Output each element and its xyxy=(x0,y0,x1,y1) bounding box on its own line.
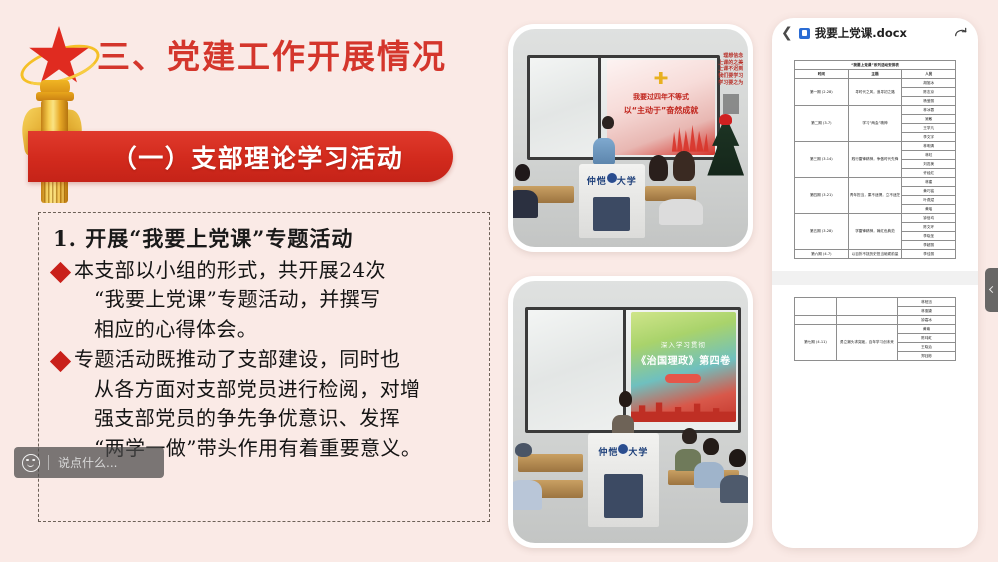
table-row: 钟嘉冰 xyxy=(795,316,956,325)
diamond-bullet-icon xyxy=(50,261,71,282)
cell-topic: 践行雷锋精神，争做时代先锋 xyxy=(848,142,902,178)
cell-person: 杨莹丽 xyxy=(902,97,956,106)
party-emblem-icon xyxy=(655,72,668,84)
cell-time: 第一期 (2.28) xyxy=(795,79,849,106)
bullet-line: 专题活动既推动了支部建设，同时也 xyxy=(74,347,400,371)
presenter-body xyxy=(593,138,615,164)
word-doc-icon xyxy=(799,28,810,39)
table-row: 第四期 (3.21) 青年担当，果不迷惘，立不迷茫 林建 xyxy=(795,178,956,187)
panel-collapse-tab[interactable] xyxy=(985,268,998,312)
cell-person: 李超丽 xyxy=(902,241,956,250)
cell-topic: 青年担当，果不迷惘，立不迷茫 xyxy=(848,178,902,214)
podium-label: 仲恺 大学 xyxy=(588,445,659,458)
presenter-head xyxy=(602,116,614,129)
student-body-c xyxy=(720,475,748,503)
column-header-topic: 主题 xyxy=(848,70,902,79)
table-row: 第二期 (3.7) 学习“两会”精神 林冰蓉 xyxy=(795,106,956,115)
student-head-left xyxy=(515,164,530,181)
bullet-text: 专题活动既推动了支部建设，同时也 从各方面对支部党员进行检阅，对增 强支部党员的… xyxy=(74,345,477,463)
bullet-line: 本支部以小组的形式，共开展24次 xyxy=(74,258,386,282)
student-head-right xyxy=(673,151,695,181)
cell-person: 吴敏 xyxy=(902,115,956,124)
photo-content: 我要过四年不等式 以“主动于”奋然成就 理想信念 上课的之美 上课不迟到 我们要… xyxy=(513,29,748,247)
bullet-line: “我要上党课”专题活动，并撰写 xyxy=(74,285,477,315)
student-head-c xyxy=(729,449,746,467)
photo-content: 深入学习贯彻 《治国理政》第四卷 仲恺 大学 xyxy=(513,281,748,543)
podium-front-panel xyxy=(593,197,630,231)
cell-person: 李佳丽 xyxy=(902,250,956,259)
cell-person: 黄瑶 xyxy=(902,205,956,214)
bullet-line: 强支部党员的争先争优意识、发挥 xyxy=(74,404,477,434)
section-banner: （一）支部理论学习活动 xyxy=(28,131,453,182)
page-separator xyxy=(772,271,978,285)
back-chevron-icon[interactable]: ❮ xyxy=(781,26,793,40)
cell-time: 第五期 (3.28) xyxy=(795,214,849,250)
slide-title-line2: 以“主动于”奋然成就 xyxy=(607,105,715,116)
wall-poster-text: 理想信念 上课的之美 上课不迟到 我们要学习 学习要之为 xyxy=(718,53,743,87)
document-page-2: 林柏迅 林惠婕 钟嘉冰 第七期 (4.11) 勇立潮头求突破，百年学习创未来 黄… xyxy=(784,285,966,373)
slide-badge xyxy=(665,374,701,383)
cell-person: 刘蕊美 xyxy=(902,160,956,169)
student-body-left xyxy=(513,480,542,510)
student-head-a xyxy=(682,428,697,444)
divider xyxy=(48,455,49,470)
document-title: 我要上党课.docx xyxy=(815,25,953,41)
bullet-item: 专题活动既推动了支部建设，同时也 从各方面对支部党员进行检阅，对增 强支部党员的… xyxy=(53,345,477,463)
cell-person: 钟信均 xyxy=(902,214,956,223)
whiteboard-left xyxy=(525,307,628,433)
chat-input-bar[interactable]: 说点什么... xyxy=(14,447,164,478)
student-body-left xyxy=(513,190,538,218)
table-row: 第六期 (4.7) 以百折不挠历史担当砥砺前量 李佳丽 xyxy=(795,250,956,259)
table-row: 第三期 (3.14) 践行雷锋精神，争做时代先锋 林明清 xyxy=(795,142,956,151)
cell-person: 林冰蓉 xyxy=(902,106,956,115)
cell-topic: 寻时代之风，追寻初之路 xyxy=(848,79,902,106)
cell-person: 陈玮虹 xyxy=(898,334,956,343)
slide-skyline-graphic xyxy=(631,394,737,423)
podium: 仲恺 大学 xyxy=(588,433,659,527)
activity-schedule-table-continued: 林柏迅 林惠婕 钟嘉冰 第七期 (4.11) 勇立潮头求突破，百年学习创未来 黄… xyxy=(794,297,956,361)
cell-person: 李晓圣 xyxy=(902,232,956,241)
cell-topic xyxy=(836,298,897,316)
column-header-time: 时间 xyxy=(795,70,849,79)
student-head-center xyxy=(649,155,668,181)
cell-person: 王晓治 xyxy=(898,343,956,352)
cell-person: 钟嘉冰 xyxy=(898,316,956,325)
cell-topic: 勇立潮头求突破，百年学习创未来 xyxy=(836,325,897,361)
table-title-row: “我要上党课”系列活动安排表 xyxy=(795,61,956,70)
table-row: 林柏迅 xyxy=(795,298,956,307)
smiley-face-icon[interactable] xyxy=(22,454,40,472)
cell-time xyxy=(795,298,837,316)
cell-topic xyxy=(836,316,897,325)
cell-topic: 学习“两会”精神 xyxy=(848,106,902,142)
cell-time: 第二期 (3.7) xyxy=(795,106,849,142)
section-banner-label: （一）支部理论学习活动 xyxy=(28,139,453,175)
table-row: 第一期 (2.28) 寻时代之风，追寻初之路 胡旭冰 xyxy=(795,79,956,88)
page-title: 三、党建工作开展情况 xyxy=(97,30,447,78)
slide-line1: 深入学习贯彻 xyxy=(631,339,737,349)
student-head-left xyxy=(515,443,532,457)
cell-topic: 学雷锋精神，铸红色典范 xyxy=(848,214,902,250)
podium: 仲恺 大学 xyxy=(579,164,645,238)
column-header-person: 人员 xyxy=(902,70,956,79)
presentation-slide: 三、党建工作开展情况 （一）支部理论学习活动 1. 开展“我要上党课”专题活动 … xyxy=(0,0,510,562)
table-row: 第七期 (4.11) 勇立潮头求突破，百年学习创未来 黄瑜 xyxy=(795,325,956,334)
cell-person: 叶燕斌 xyxy=(902,196,956,205)
table-header-row: 时间 主题 人员 xyxy=(795,70,956,79)
bullet-line: 相应的心得体会。 xyxy=(74,315,477,345)
slide-title-line1: 我要过四年不等式 xyxy=(607,92,715,102)
podium-label: 仲恺 大学 xyxy=(579,174,645,187)
cell-person: 陈志京 xyxy=(902,88,956,97)
cell-person: 王学凡 xyxy=(902,124,956,133)
chat-input-placeholder[interactable]: 说点什么... xyxy=(58,454,117,471)
cell-person: 胡旭冰 xyxy=(902,79,956,88)
cell-person: 林明清 xyxy=(902,142,956,151)
cell-person: 黄瑜 xyxy=(898,325,956,334)
student-head-b xyxy=(703,438,719,455)
cell-person: 李文宇 xyxy=(902,133,956,142)
slide-crowd-graphic xyxy=(672,113,709,151)
table-title: “我要上党课”系列活动安排表 xyxy=(795,61,956,70)
item-heading: 1. 开展“我要上党课”专题活动 xyxy=(53,223,477,255)
slide-line2: 《治国理政》第四卷 xyxy=(631,352,737,367)
projected-slide: 深入学习贯彻 《治国理政》第四卷 xyxy=(631,312,737,422)
projected-slide: 我要过四年不等式 以“主动于”奋然成就 xyxy=(607,60,715,156)
photo-study-session: 深入学习贯彻 《治国理政》第四卷 仲恺 大学 xyxy=(508,276,753,548)
document-preview-panel[interactable]: ❮ 我要上党课.docx “我要上党课”系列活动安排表 时间 主题 人员 xyxy=(772,18,978,548)
activity-schedule-table: “我要上党课”系列活动安排表 时间 主题 人员 第一期 (2.28) 寻时代之风… xyxy=(794,60,956,259)
cell-time: 第三期 (3.14) xyxy=(795,142,849,178)
bullet-line: 从各方面对支部党员进行检阅，对增 xyxy=(74,375,477,405)
cell-person: 陈文环 xyxy=(902,223,956,232)
cell-person: 林建 xyxy=(902,178,956,187)
wall-decal xyxy=(723,94,739,114)
cell-person: 林惠婕 xyxy=(898,307,956,316)
document-header: ❮ 我要上党课.docx xyxy=(772,18,978,48)
document-page-1: “我要上党课”系列活动安排表 时间 主题 人员 第一期 (2.28) 寻时代之风… xyxy=(784,48,966,271)
cell-time xyxy=(795,316,837,325)
cell-time: 第七期 (4.11) xyxy=(795,325,837,361)
cell-person: 黄巧铭 xyxy=(902,187,956,196)
student-desk-left xyxy=(518,454,584,472)
podium-front-panel xyxy=(604,474,643,517)
cell-topic: 以百折不挠历史担当砥砺前量 xyxy=(848,250,902,259)
student-body-right xyxy=(659,199,703,225)
santa-hat-icon xyxy=(719,114,732,125)
share-refresh-icon[interactable] xyxy=(953,25,969,41)
cell-person: 林虹 xyxy=(902,151,956,160)
document-pages[interactable]: “我要上党课”系列活动安排表 时间 主题 人员 第一期 (2.28) 寻时代之风… xyxy=(772,48,978,548)
cell-person: 林柏迅 xyxy=(898,298,956,307)
table-row: 第五期 (3.28) 学雷锋精神，铸红色典范 钟信均 xyxy=(795,214,956,223)
cell-time: 第六期 (4.7) xyxy=(795,250,849,259)
cell-time: 第四期 (3.21) xyxy=(795,178,849,214)
bullet-text: 本支部以小组的形式，共开展24次 “我要上党课”专题活动，并撰写 相应的心得体会… xyxy=(74,256,477,345)
cell-person: 郑钰彬 xyxy=(898,352,956,361)
diamond-bullet-icon xyxy=(50,351,71,372)
bullet-item: 本支部以小组的形式，共开展24次 “我要上党课”专题活动，并撰写 相应的心得体会… xyxy=(53,256,477,345)
cell-person: 许经红 xyxy=(902,169,956,178)
photo-party-class-lecture: 我要过四年不等式 以“主动于”奋然成就 理想信念 上课的之美 上课不迟到 我们要… xyxy=(508,24,753,252)
presenter-head xyxy=(619,391,632,407)
